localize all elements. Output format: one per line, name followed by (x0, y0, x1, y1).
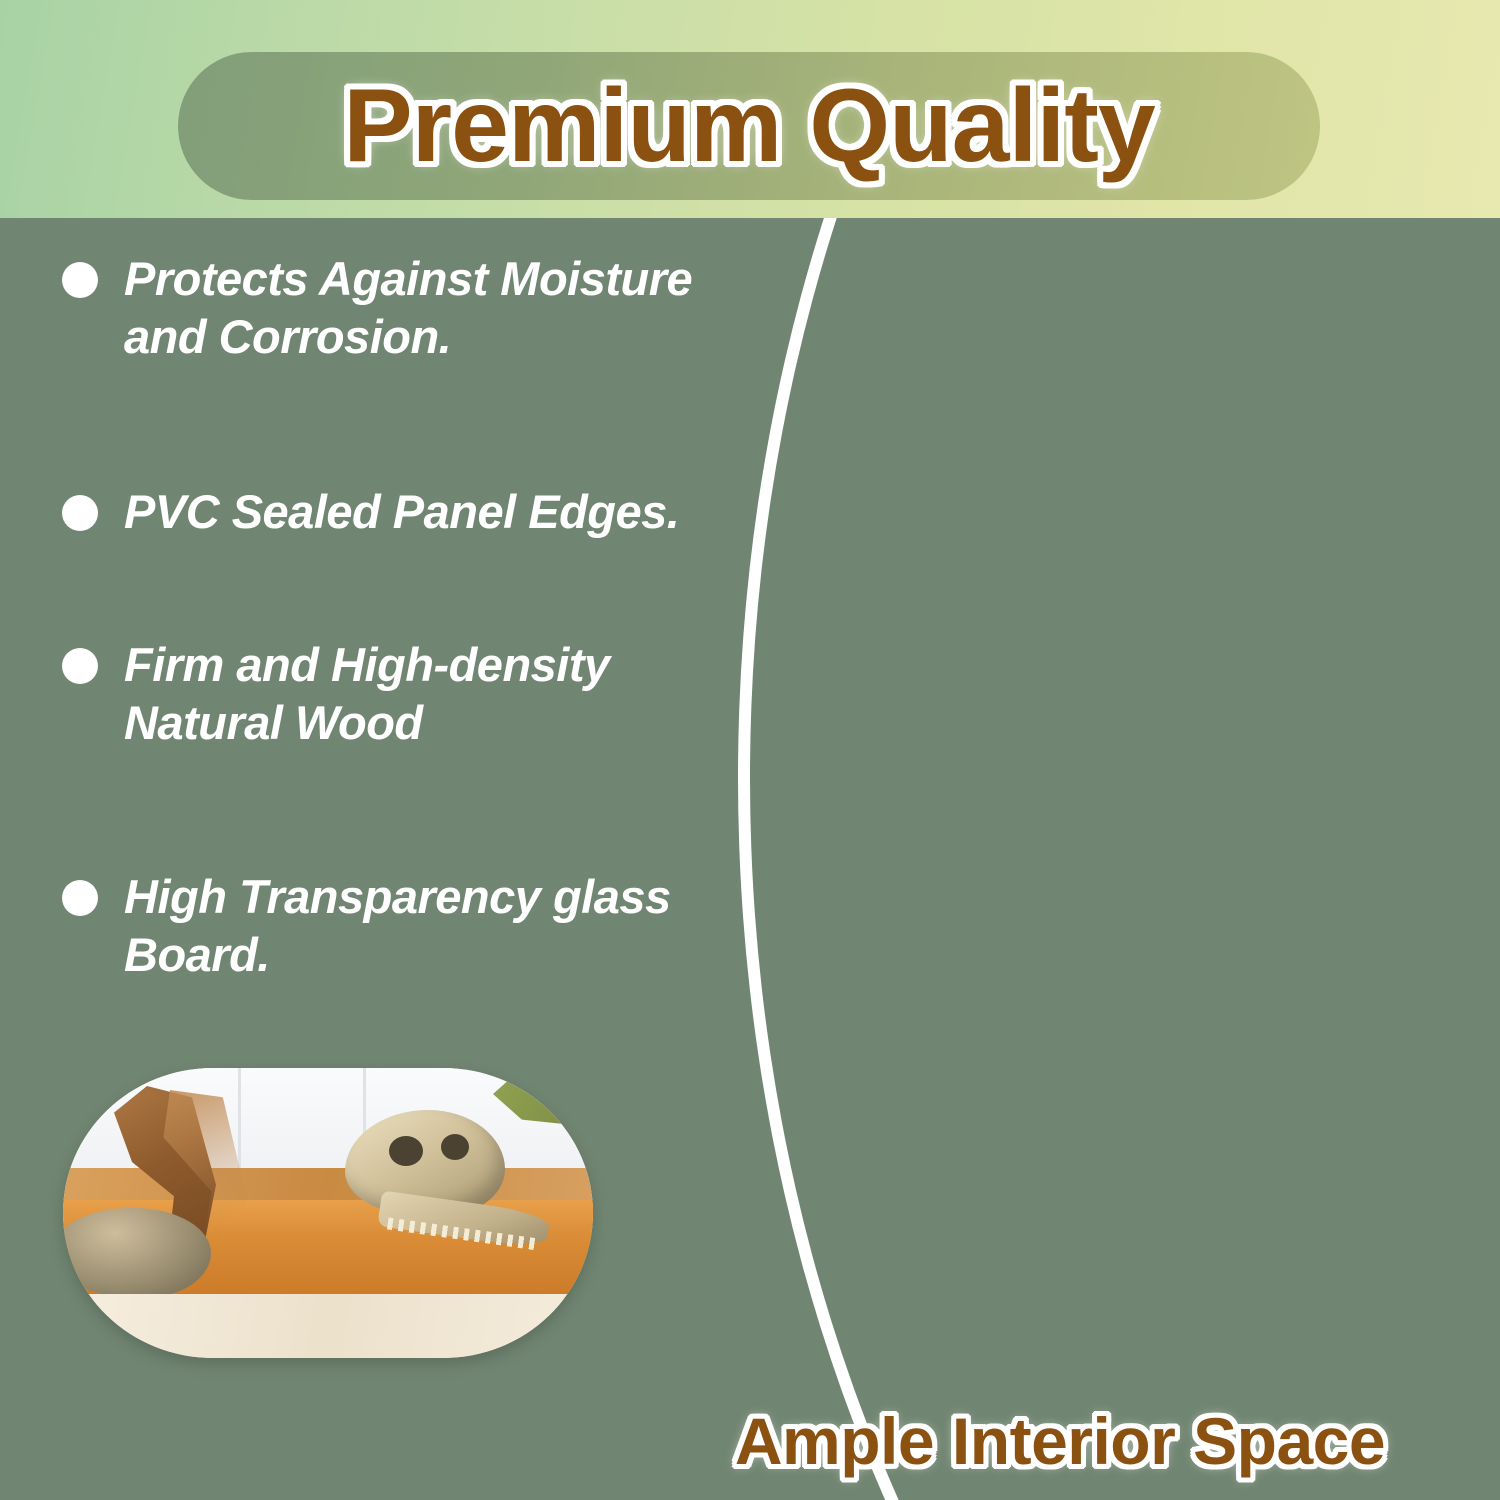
skull-decoration (345, 1110, 555, 1280)
bullet-dot-icon (62, 880, 98, 916)
header-banner: Premium Quality (0, 0, 1500, 218)
cactus-stem (961, 1140, 977, 1250)
feature-bullet-item: Protects Against Moisture and Corrosion. (62, 250, 760, 367)
photo-inset-closeup (63, 1068, 593, 1358)
skull-eye-socket (1242, 1218, 1268, 1241)
wood-corner-post (822, 870, 840, 1300)
rock-decoration (63, 1208, 211, 1298)
marketing-infographic: Premium Quality (0, 0, 1500, 1500)
bullet-dot-icon (62, 648, 98, 684)
skull-teeth (1178, 1286, 1308, 1300)
bullet-dot-icon (62, 262, 98, 298)
latch-hardware-icon (823, 966, 839, 986)
agave-plant-icon (868, 1188, 958, 1278)
fern-plant-icon (970, 228, 1290, 558)
skull-eye-socket (389, 1136, 423, 1166)
feature-bullet-text: Protects Against Moisture and Corrosion. (124, 250, 760, 367)
skull-eye-socket (441, 1134, 469, 1160)
bottom-caption: Ample Interior Space (640, 1398, 1480, 1484)
feature-bullet-text: High Transparency glass Board. (124, 868, 760, 985)
skull-eye-socket (1196, 1220, 1226, 1246)
cactus-arm (979, 1186, 991, 1248)
feature-bullet-item: PVC Sealed Panel Edges. (62, 483, 679, 541)
dinosaur-skull-decoration (1251, 453, 1500, 634)
feature-bullet-item: High Transparency glass Board. (62, 868, 760, 985)
wood-base-rail (63, 1294, 593, 1358)
bullet-dot-icon (62, 495, 98, 531)
feature-bullet-item: Firm and High-density Natural Wood (62, 636, 760, 753)
feature-bullet-text: PVC Sealed Panel Edges. (124, 483, 679, 541)
feature-bullet-text: Firm and High-density Natural Wood (124, 636, 760, 753)
header-title: Premium Quality (178, 50, 1320, 202)
skull-cranium (1160, 1190, 1300, 1290)
